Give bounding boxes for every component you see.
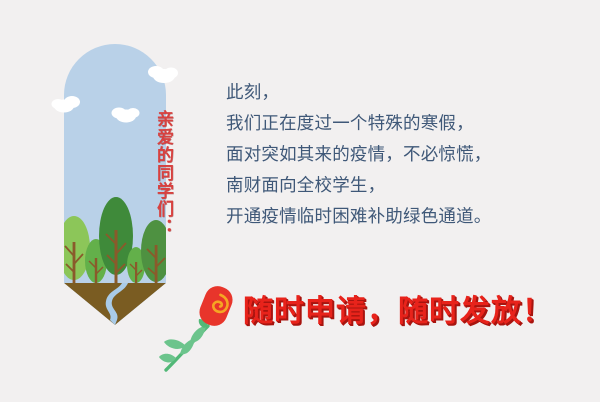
- rose-flower-icon: [158, 276, 248, 376]
- body-line-5: 开通疫情临时困难补助绿色通道。: [226, 202, 586, 233]
- body-line-2: 我们正在度过一个特殊的寒假，: [226, 109, 586, 140]
- body-line-1: 此刻，: [226, 78, 586, 109]
- body-line-3: 面对突如其来的疫情，不必惊慌，: [226, 140, 586, 171]
- body-line-4: 南财面向全校学生，: [226, 171, 586, 202]
- body-copy-block: 此刻， 我们正在度过一个特殊的寒假， 面对突如其来的疫情，不必惊慌， 南财面向全…: [226, 78, 586, 233]
- rose-illustration: [158, 276, 248, 376]
- red-headline: 随时申请，随时发放！: [243, 293, 553, 331]
- bookmark-vertical-heading: 亲爱的同学们：: [145, 110, 171, 236]
- poster-canvas: 亲爱的同学们： 此刻， 我们正在度过一个特殊的寒假， 面对突如其来的疫情，不必惊…: [0, 0, 600, 402]
